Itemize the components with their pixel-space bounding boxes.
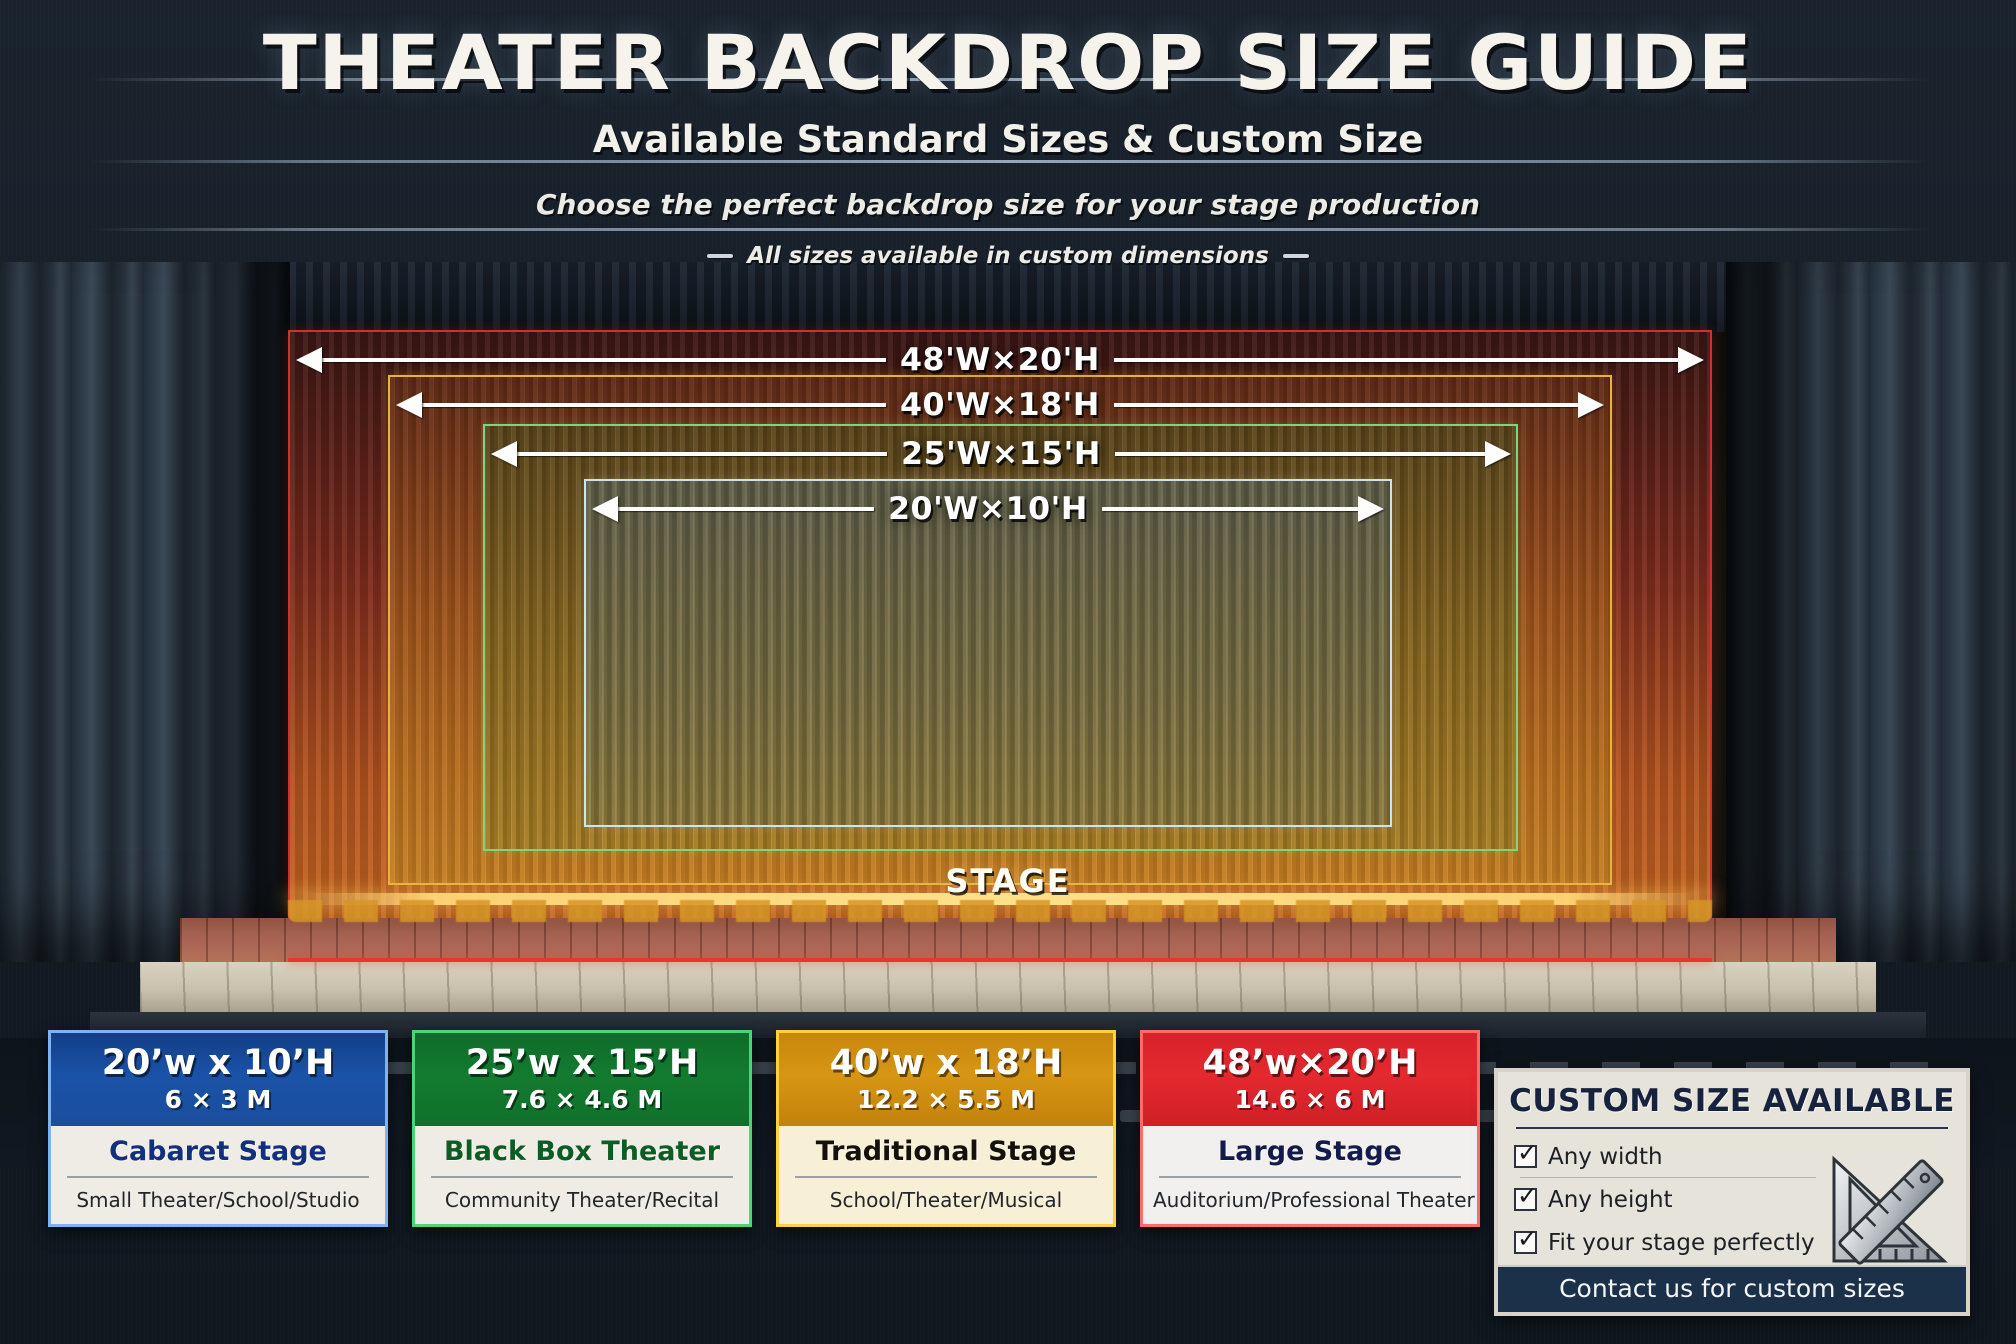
size-card-large-stage[interactable]: 48’w×20’H 14.6 × 6 M Large Stage Auditor… [1140, 1030, 1480, 1227]
card-body-green: Black Box Theater Community Theater/Reci… [415, 1126, 749, 1224]
card-name-label: Black Box Theater [425, 1136, 739, 1176]
checkbox-checked-icon [1514, 1145, 1537, 1168]
ruler-set-square-icon [1826, 1153, 1956, 1271]
page-title: THEATER BACKDROP SIZE GUIDE [0, 18, 2016, 107]
arrow-left-icon [396, 392, 422, 418]
arrow-right-icon [1678, 347, 1704, 373]
dash-right-icon [1283, 254, 1309, 258]
dimension-row-48x20: 48'W×20'H [296, 338, 1704, 382]
card-separator [1159, 1176, 1461, 1178]
dimension-label-20x10: 20'W×10'H [872, 491, 1104, 527]
arrow-right-icon [1358, 496, 1384, 522]
card-usage-label: Community Theater/Recital [425, 1188, 739, 1212]
arrow-right-icon [1578, 392, 1604, 418]
dimension-shaft-right [1102, 507, 1358, 511]
custom-size-feature-list: Any width Any height Fit your stage perf… [1498, 1135, 1966, 1265]
dimension-shaft-left [322, 358, 886, 362]
card-meters-label: 12.2 × 5.5 M [787, 1085, 1105, 1114]
card-usage-label: Auditorium/Professional Theater [1153, 1188, 1467, 1212]
dash-left-icon [707, 254, 733, 258]
card-usage-label: Small Theater/School/Studio [61, 1188, 375, 1212]
dimension-label-48x20: 48'W×20'H [884, 342, 1116, 378]
card-feet-label: 40’w x 18’H [787, 1043, 1105, 1083]
card-body-red: Large Stage Auditorium/Professional Thea… [1143, 1126, 1477, 1224]
card-name-label: Large Stage [1153, 1136, 1467, 1176]
custom-size-title-rule [1516, 1127, 1948, 1129]
dimension-label-40x18: 40'W×18'H [884, 387, 1116, 423]
footlight-bulbs [288, 900, 1712, 922]
custom-feature-label: Any width [1548, 1144, 1663, 1170]
custom-feature-label: Any height [1548, 1187, 1673, 1213]
card-body-blue: Cabaret Stage Small Theater/School/Studi… [51, 1126, 385, 1224]
arrow-left-icon [592, 496, 618, 522]
arrow-left-icon [296, 347, 322, 373]
size-card-cabaret-stage[interactable]: 20’w x 10’H 6 × 3 M Cabaret Stage Small … [48, 1030, 388, 1227]
stage-wood-floor [140, 962, 1876, 1014]
page-tagline: Choose the perfect backdrop size for you… [0, 188, 2016, 221]
dimension-shaft-left [422, 403, 886, 407]
stage-label: STAGE [0, 862, 2016, 900]
stage-edge-line [288, 958, 1712, 962]
card-feet-label: 25’w x 15’H [423, 1043, 741, 1083]
card-caption-red: 48’w×20’H 14.6 × 6 M [1143, 1033, 1477, 1126]
checkbox-checked-icon [1514, 1231, 1537, 1254]
custom-dimensions-note-text: All sizes available in custom dimensions [747, 243, 1269, 269]
custom-size-panel[interactable]: CUSTOM SIZE AVAILABLE Any width Any heig… [1494, 1068, 1970, 1316]
card-separator [795, 1176, 1097, 1178]
card-caption-gold: 40’w x 18’H 12.2 × 5.5 M [779, 1033, 1113, 1126]
dimension-row-25x15: 25'W×15'H [491, 432, 1511, 476]
dimension-shaft-right [1114, 358, 1678, 362]
header: THEATER BACKDROP SIZE GUIDE Available St… [0, 0, 2016, 300]
custom-dimensions-note: All sizes available in custom dimensions [0, 243, 2016, 269]
card-name-label: Traditional Stage [789, 1136, 1103, 1176]
dimension-shaft-left [618, 507, 874, 511]
size-card-black-box-theater[interactable]: 25’w x 15’H 7.6 × 4.6 M Black Box Theate… [412, 1030, 752, 1227]
card-usage-label: School/Theater/Musical [789, 1188, 1103, 1212]
dimension-row-40x18: 40'W×18'H [396, 383, 1604, 427]
dimension-shaft-right [1115, 452, 1485, 456]
card-feet-label: 20’w x 10’H [59, 1043, 377, 1083]
custom-size-title: CUSTOM SIZE AVAILABLE [1498, 1072, 1966, 1127]
stage-apron [180, 918, 1836, 962]
card-separator [431, 1176, 733, 1178]
custom-feature-label: Fit your stage perfectly [1548, 1230, 1815, 1256]
page-subtitle: Available Standard Sizes & Custom Size [0, 118, 2016, 161]
dimension-shaft-left [517, 452, 887, 456]
checkbox-checked-icon [1514, 1188, 1537, 1211]
card-caption-green: 25’w x 15’H 7.6 × 4.6 M [415, 1033, 749, 1126]
card-feet-label: 48’w×20’H [1151, 1043, 1469, 1083]
feature-divider [1520, 1177, 1816, 1178]
size-card-traditional-stage[interactable]: 40’w x 18’H 12.2 × 5.5 M Traditional Sta… [776, 1030, 1116, 1227]
dimension-shaft-right [1114, 403, 1578, 407]
card-separator [67, 1176, 369, 1178]
size-rect-20x10[interactable] [584, 479, 1392, 827]
card-body-gold: Traditional Stage School/Theater/Musical [779, 1126, 1113, 1224]
card-meters-label: 14.6 × 6 M [1151, 1085, 1469, 1114]
dimension-label-25x15: 25'W×15'H [885, 436, 1117, 472]
card-caption-blue: 20’w x 10’H 6 × 3 M [51, 1033, 385, 1126]
rect-20-fill [586, 481, 1390, 825]
arrow-left-icon [491, 441, 517, 467]
infographic-root: THEATER BACKDROP SIZE GUIDE Available St… [0, 0, 2016, 1344]
card-meters-label: 6 × 3 M [59, 1085, 377, 1114]
arrow-right-icon [1485, 441, 1511, 467]
card-name-label: Cabaret Stage [61, 1136, 375, 1176]
dimension-row-20x10: 20'W×10'H [592, 487, 1384, 531]
custom-size-contact-bar[interactable]: Contact us for custom sizes [1498, 1265, 1966, 1312]
header-divider-bottom [90, 228, 1930, 231]
card-meters-label: 7.6 × 4.6 M [423, 1085, 741, 1114]
